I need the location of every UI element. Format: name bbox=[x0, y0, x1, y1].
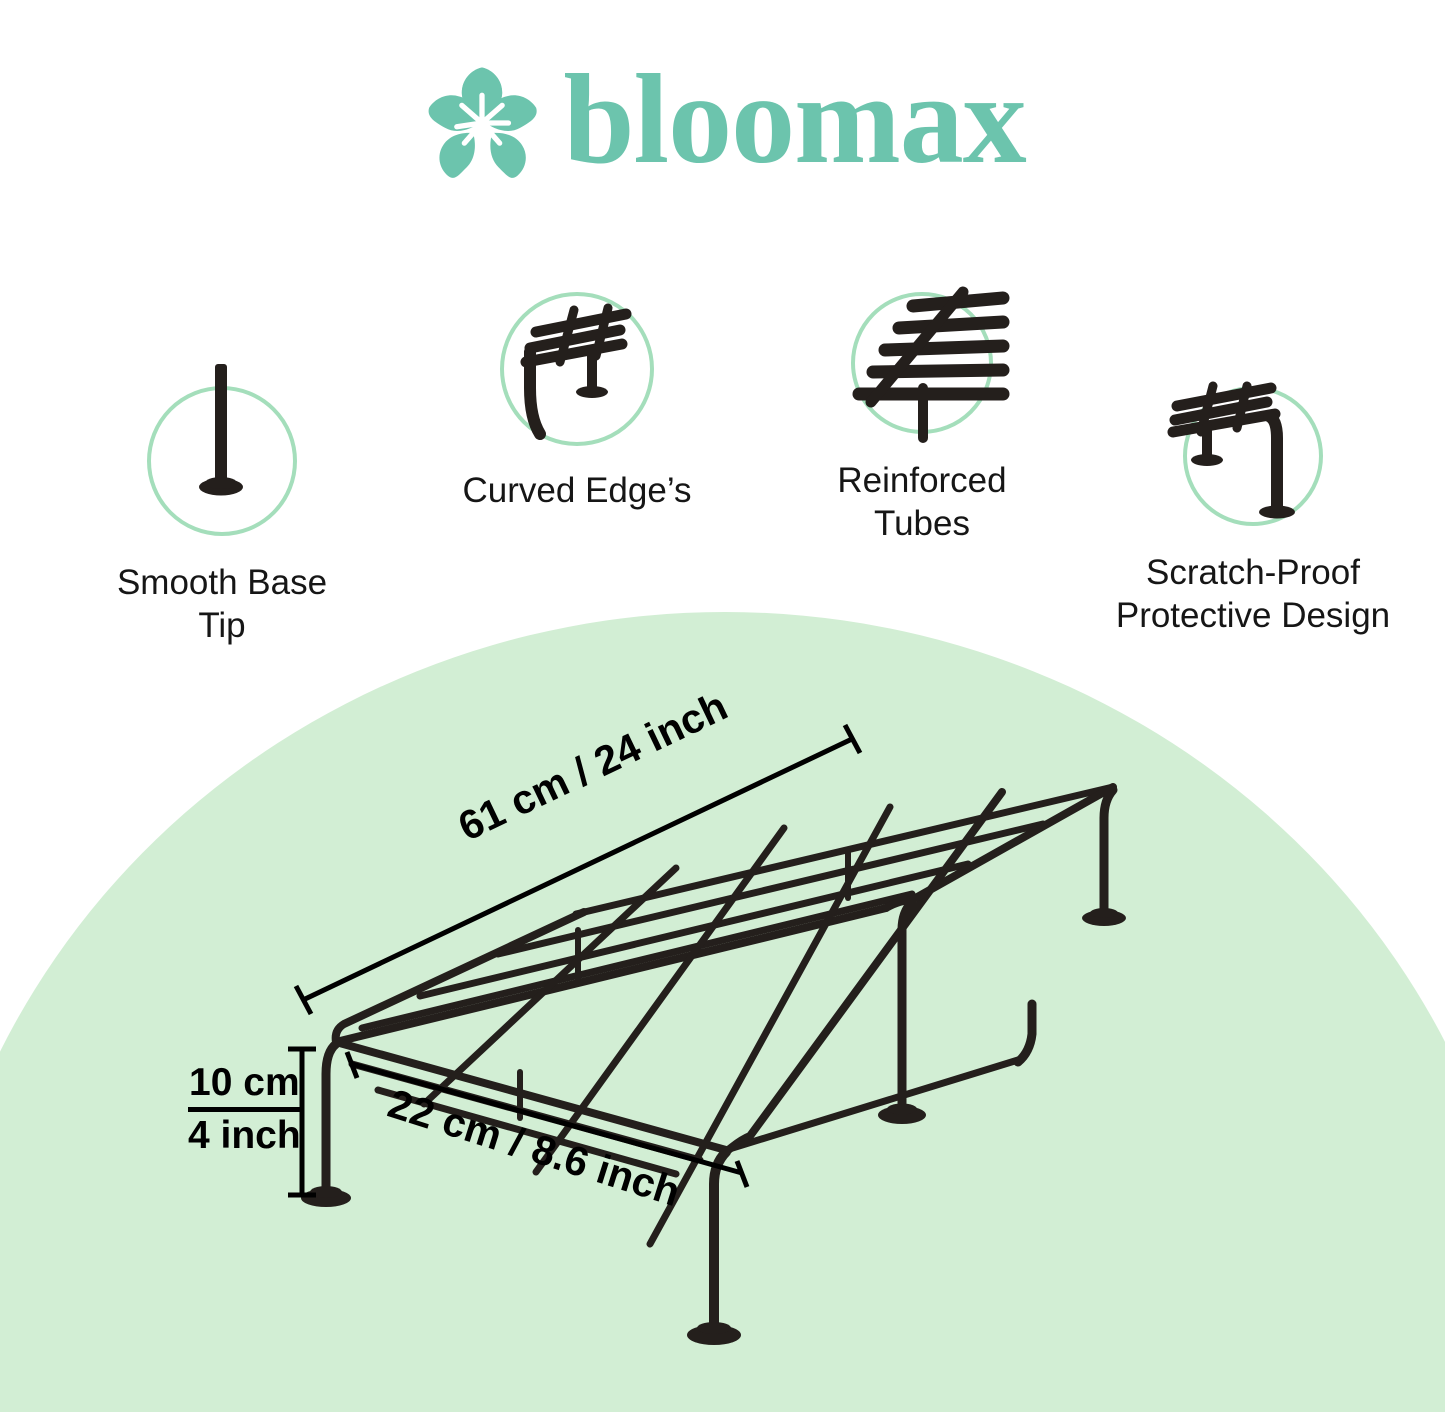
brand-wordmark: bloomax bbox=[563, 55, 1025, 183]
dimension-label-height: 10 cm 4 inch bbox=[188, 1063, 301, 1157]
wire-shelf-rack-drawing bbox=[0, 612, 1445, 1412]
feature-curved-edges: Curved Edge’s bbox=[432, 292, 722, 513]
rack-leg-protector-icon bbox=[1183, 386, 1323, 526]
rack-leg-foot-pad-icon bbox=[147, 386, 297, 536]
feature-icon-ring bbox=[500, 292, 654, 446]
feature-reinforced-tubes: Reinforced Tubes bbox=[792, 292, 1052, 545]
cherry-blossom-flower-icon bbox=[419, 60, 545, 186]
rack-tube-grid-icon bbox=[851, 292, 993, 434]
feature-scratch-proof-protective-design: Scratch-Proof Protective Design bbox=[1078, 386, 1428, 637]
brand-logo: bloomax bbox=[0, 48, 1445, 198]
rack-curved-corner-icon bbox=[500, 292, 654, 446]
dimension-label-height-cm: 10 cm bbox=[188, 1063, 301, 1112]
feature-label: Reinforced Tubes bbox=[837, 460, 1006, 545]
dimension-label-height-inch: 4 inch bbox=[188, 1112, 301, 1157]
product-illustration bbox=[0, 612, 1445, 1412]
feature-icon-ring bbox=[851, 292, 993, 434]
feature-label: Curved Edge’s bbox=[463, 470, 692, 513]
product-infographic: bloomax Smooth Base Tip bbox=[0, 0, 1445, 1412]
feature-icon-ring bbox=[147, 386, 297, 536]
feature-icon-ring bbox=[1183, 386, 1323, 526]
rack-frame bbox=[326, 787, 1113, 1328]
feature-smooth-base-tip: Smooth Base Tip bbox=[62, 386, 382, 647]
